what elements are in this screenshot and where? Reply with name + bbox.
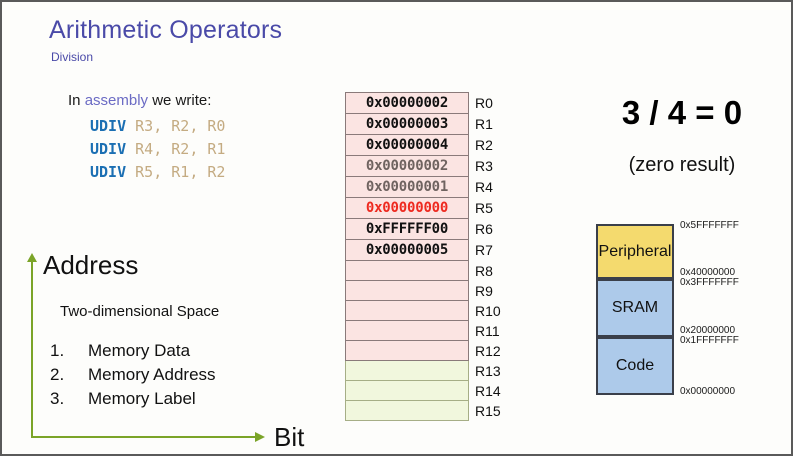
register-value — [346, 301, 469, 321]
address-space-heading: Two-dimensional Space — [60, 303, 219, 320]
register-name: R15 — [469, 401, 511, 421]
register-value — [346, 321, 469, 341]
register-name: R11 — [469, 321, 511, 341]
slide-canvas: Arithmetic Operators Division In assembl… — [0, 0, 793, 456]
register-value: 0x00000004 — [346, 135, 469, 156]
x-axis-line — [31, 436, 259, 438]
assembly-keyword: assembly — [85, 92, 148, 109]
list-item-label: Memory Data — [88, 341, 190, 360]
list-item: 2.Memory Address — [50, 363, 216, 387]
table-row: R8 — [346, 261, 511, 281]
assembly-opcode: UDIV — [90, 163, 126, 181]
register-value: 0x00000001 — [346, 177, 469, 198]
register-value: 0x00000003 — [346, 114, 469, 135]
register-name: R9 — [469, 281, 511, 301]
list-item: 3.Memory Label — [50, 387, 216, 411]
table-row: R9 — [346, 281, 511, 301]
register-name: R12 — [469, 341, 511, 361]
memory-address-label: 0x1FFFFFFF — [680, 335, 739, 346]
register-name: R6 — [469, 219, 511, 240]
memory-address-label: 0x3FFFFFFF — [680, 277, 739, 288]
table-row: R14 — [346, 381, 511, 401]
register-value: 0xFFFFFF00 — [346, 219, 469, 240]
result-note: (zero result) — [582, 154, 782, 177]
assembly-intro-suffix: we write: — [148, 92, 211, 109]
table-row: 0x00000001R4 — [346, 177, 511, 198]
x-axis-arrow-icon — [255, 432, 265, 442]
assembly-operands: R4, R2, R1 — [135, 140, 225, 158]
register-name: R10 — [469, 301, 511, 321]
memory-block-sram: SRAM — [596, 279, 674, 337]
table-row: R11 — [346, 321, 511, 341]
assembly-intro: In assembly we write: — [68, 92, 211, 109]
register-name: R8 — [469, 261, 511, 281]
register-table: 0x00000002R0 0x00000003R1 0x00000004R2 0… — [345, 92, 511, 421]
result-equation: 3 / 4 = 0 — [582, 94, 782, 132]
register-name: R1 — [469, 114, 511, 135]
register-value — [346, 381, 469, 401]
register-name: R14 — [469, 381, 511, 401]
register-value: 0x00000002 — [346, 156, 469, 177]
list-item-label: Memory Address — [88, 365, 216, 384]
register-value — [346, 261, 469, 281]
assembly-operands: R5, R1, R2 — [135, 163, 225, 181]
table-row: R13 — [346, 361, 511, 381]
table-row: 0x00000002R3 — [346, 156, 511, 177]
memory-address-label: 0x00000000 — [680, 386, 735, 397]
register-value — [346, 341, 469, 361]
memory-block-code: Code — [596, 337, 674, 395]
list-item-label: Memory Label — [88, 389, 196, 408]
assembly-code-block: UDIV R3, R2, R0 UDIV R4, R2, R1 UDIV R5,… — [90, 115, 225, 184]
register-name: R13 — [469, 361, 511, 381]
address-notes-list: 1.Memory Data 2.Memory Address 3.Memory … — [50, 339, 216, 411]
register-name: R0 — [469, 93, 511, 114]
assembly-line: UDIV R4, R2, R1 — [90, 138, 225, 161]
assembly-line: UDIV R3, R2, R0 — [90, 115, 225, 138]
table-row: R15 — [346, 401, 511, 421]
table-row: R10 — [346, 301, 511, 321]
assembly-line: UDIV R5, R1, R2 — [90, 161, 225, 184]
register-name: R3 — [469, 156, 511, 177]
page-title: Arithmetic Operators — [49, 16, 282, 45]
register-value — [346, 361, 469, 381]
table-row: 0x00000000R5 — [346, 198, 511, 219]
table-row: 0x00000005R7 — [346, 240, 511, 261]
register-value — [346, 281, 469, 301]
table-row: 0xFFFFFF00R6 — [346, 219, 511, 240]
list-item-number: 1. — [50, 339, 88, 363]
list-item-number: 3. — [50, 387, 88, 411]
assembly-intro-prefix: In — [68, 92, 85, 109]
register-name: R7 — [469, 240, 511, 261]
memory-address-label: 0x5FFFFFFF — [680, 220, 739, 231]
memory-block-peripheral: Peripheral — [596, 224, 674, 279]
register-name: R5 — [469, 198, 511, 219]
register-name: R2 — [469, 135, 511, 156]
table-row: 0x00000002R0 — [346, 93, 511, 114]
list-item: 1.Memory Data — [50, 339, 216, 363]
page-subtitle: Division — [51, 50, 93, 64]
register-name: R4 — [469, 177, 511, 198]
y-axis-arrow-icon — [27, 253, 37, 262]
assembly-opcode: UDIV — [90, 140, 126, 158]
y-axis-line — [31, 260, 33, 438]
table-row: 0x00000004R2 — [346, 135, 511, 156]
register-value: 0x00000000 — [346, 198, 469, 219]
register-value: 0x00000002 — [346, 93, 469, 114]
register-value: 0x00000005 — [346, 240, 469, 261]
y-axis-label: Address — [43, 250, 138, 281]
table-row: 0x00000003R1 — [346, 114, 511, 135]
register-value — [346, 401, 469, 421]
list-item-number: 2. — [50, 363, 88, 387]
table-row: R12 — [346, 341, 511, 361]
assembly-opcode: UDIV — [90, 117, 126, 135]
x-axis-label: Bit — [274, 422, 304, 453]
assembly-operands: R3, R2, R0 — [135, 117, 225, 135]
